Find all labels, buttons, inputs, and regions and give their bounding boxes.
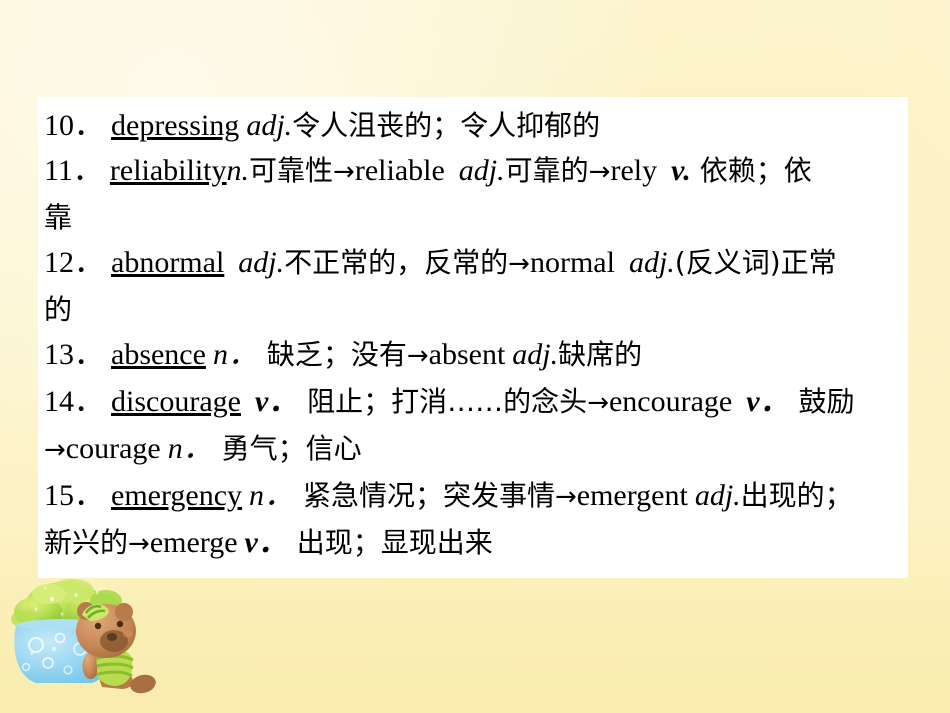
vocab-chinese-gloss: 可靠性 (249, 154, 333, 187)
vocab-number: 14． (44, 385, 104, 418)
derivation-arrow-icon: → (407, 341, 429, 371)
part-of-speech: n. (227, 154, 250, 187)
vocab-chinese-gloss: 勇气；信心 (213, 432, 362, 465)
vocab-derived-word: encourage (609, 385, 732, 418)
part-of-speech: adj. (629, 246, 675, 279)
vocab-chinese-gloss: 出现的； (741, 479, 853, 512)
vocab-line: 靠 (44, 195, 898, 240)
derivation-arrow-icon: → (587, 388, 609, 418)
derivation-arrow-icon: → (44, 435, 66, 465)
vocab-chinese-gloss: 鼓励 (790, 385, 855, 418)
vocab-line: 13．absencen． 缺乏；没有→absentadj.缺席的 (44, 332, 898, 379)
vocab-chinese-gloss: 靠 (44, 201, 72, 234)
part-of-speech: adj. (238, 246, 284, 279)
vocab-chinese-gloss: 令人沮丧的；令人抑郁的 (292, 109, 600, 142)
vocab-chinese-gloss: 缺席的 (558, 338, 642, 371)
derivation-arrow-icon: → (508, 249, 530, 279)
content-panel: 10．depressingadj.令人沮丧的；令人抑郁的11．reliabili… (38, 97, 908, 578)
part-of-speech: v． (255, 385, 298, 418)
part-of-speech: n． (213, 338, 258, 371)
part-of-speech: v． (245, 526, 288, 559)
vocab-chinese-gloss: 可靠的 (505, 154, 589, 187)
derivation-arrow-icon: → (333, 157, 355, 187)
part-of-speech: adj. (512, 338, 558, 371)
vocab-chinese-gloss: 缺乏；没有 (258, 338, 407, 371)
part-of-speech: v． (746, 385, 789, 418)
vocab-line: 的 (44, 287, 898, 332)
vocabulary-list: 10．depressingadj.令人沮丧的；令人抑郁的11．reliabili… (38, 97, 908, 567)
vocab-chinese-gloss: (反义词)正常 (675, 246, 837, 279)
vocab-chinese-gloss: 不正常的，反常的 (284, 246, 508, 279)
vocab-headword: reliability (110, 154, 227, 187)
vocab-derived-word: courage (66, 432, 161, 465)
vocab-line: 15．emergencyn． 紧急情况；突发事情→emergentadj.出现的… (44, 473, 898, 520)
vocab-derived-word: absent (429, 338, 506, 371)
part-of-speech: adj. (459, 154, 505, 187)
vocab-headword: depressing (111, 109, 239, 142)
vocab-chinese-gloss: 紧急情况；突发事情 (294, 479, 555, 512)
vocab-chinese-gloss: 依赖；依 (691, 154, 812, 187)
part-of-speech: n． (168, 432, 213, 465)
vocab-chinese-gloss: 出现；显现出来 (288, 526, 493, 559)
part-of-speech: adj. (246, 109, 292, 142)
part-of-speech: adj. (695, 479, 741, 512)
derivation-arrow-icon: → (589, 157, 611, 187)
vocab-derived-word: normal (530, 246, 615, 279)
derivation-arrow-icon: → (555, 482, 577, 512)
vocab-number: 13． (44, 338, 104, 371)
vocab-number: 11． (44, 154, 103, 187)
vocab-derived-word: emerge (150, 526, 238, 559)
vocab-derived-word: reliable (355, 154, 445, 187)
vocab-line: 14．discouragev． 阻止；打消……的念头→encouragev． 鼓… (44, 379, 898, 426)
vocab-headword: abnormal (111, 246, 224, 279)
derivation-arrow-icon: → (128, 529, 150, 559)
vocab-number: 12． (44, 246, 104, 279)
vocab-line: 12．abnormaladj.不正常的，反常的→normaladj.(反义词)正… (44, 240, 898, 287)
vocab-chinese-gloss: 阻止；打消……的念头 (298, 385, 587, 418)
vocab-line: 11．reliabilityn.可靠性→reliableadj.可靠的→rely… (44, 148, 898, 195)
vocab-headword: discourage (111, 385, 241, 418)
vocab-derived-word: emergent (577, 479, 688, 512)
vocab-line: 新兴的→emergev． 出现；显现出来 (44, 520, 898, 567)
vocab-derived-word: rely (610, 154, 657, 187)
vocab-line: →couragen． 勇气；信心 (44, 426, 898, 473)
vocab-number: 15． (44, 479, 104, 512)
vocab-chinese-gloss: 的 (44, 293, 72, 326)
vocab-number: 10． (44, 109, 104, 142)
part-of-speech: n． (249, 479, 294, 512)
vocab-chinese-gloss: 新兴的 (44, 526, 128, 559)
vocab-headword: emergency (111, 479, 242, 512)
vocab-headword: absence (111, 338, 206, 371)
part-of-speech: v. (671, 154, 691, 187)
vocab-line: 10．depressingadj.令人沮丧的；令人抑郁的 (44, 103, 898, 148)
